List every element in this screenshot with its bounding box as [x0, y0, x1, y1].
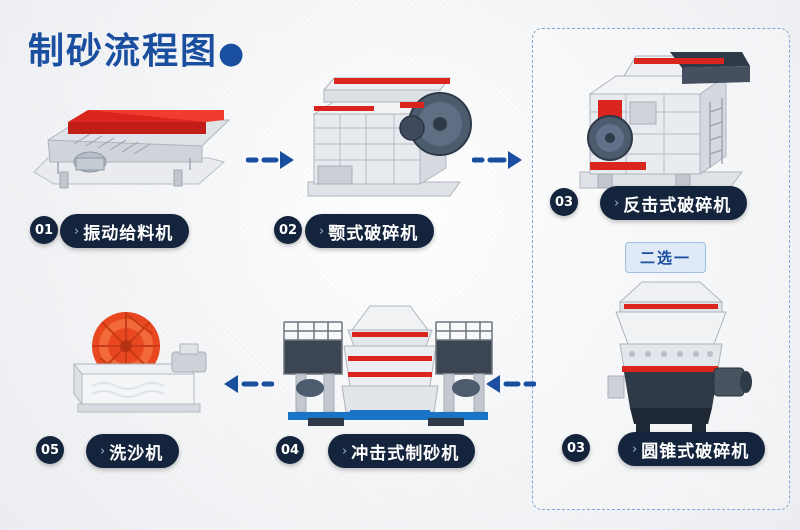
pill-caret-icon: › [100, 444, 105, 459]
pill-caret-icon: › [74, 224, 79, 239]
node-01-label: 振动给料机 [83, 219, 173, 244]
flowchart-canvas: 制砂流程图● [0, 0, 800, 530]
pill-caret-icon: › [319, 224, 324, 239]
arrow-jaw-to-impact [472, 148, 524, 172]
node-03-impact-number: 03 [550, 188, 578, 216]
cone-crusher-illustration [590, 272, 755, 437]
node-02-number: 02 [274, 216, 302, 244]
node-02-label-pill: › 颚式破碎机 [305, 214, 434, 248]
node-03-cone-number: 03 [562, 434, 590, 462]
node-05-number: 05 [36, 436, 64, 464]
node-02-label: 颚式破碎机 [328, 219, 418, 244]
node-01-number: 01 [30, 216, 58, 244]
node-04-number: 04 [276, 436, 304, 464]
impact-crusher-illustration [570, 42, 760, 202]
sand-washing-machine-illustration [68, 308, 213, 418]
arrow-sandmaker-to-washer [222, 372, 274, 396]
node-01-label-pill: › 振动给料机 [60, 214, 189, 248]
node-03-impact-label-pill: › 反击式破碎机 [600, 186, 747, 220]
arrow-feeder-to-jaw [246, 148, 296, 172]
node-05-label: 洗沙机 [109, 439, 163, 464]
pill-caret-icon: › [342, 444, 347, 459]
node-03-cone-label: 圆锥式破碎机 [641, 437, 749, 462]
node-03-impact-label: 反击式破碎机 [623, 191, 731, 216]
title-bullet-icon: ● [218, 36, 246, 71]
pill-caret-icon: › [632, 442, 637, 457]
alternative-select-badge: 二选一 [625, 242, 706, 273]
node-03-cone-label-pill: › 圆锥式破碎机 [618, 432, 765, 466]
node-04-label-pill: › 冲击式制砂机 [328, 434, 475, 468]
page-title-text: 制砂流程图 [28, 31, 218, 72]
node-04-label: 冲击式制砂机 [351, 439, 459, 464]
sand-making-machine-illustration [278, 300, 498, 430]
jaw-crusher-illustration [300, 62, 475, 202]
pill-caret-icon: › [614, 196, 619, 211]
node-05-label-pill: › 洗沙机 [86, 434, 179, 468]
page-title: 制砂流程图● [28, 22, 246, 74]
vibrating-feeder-illustration [24, 100, 239, 195]
